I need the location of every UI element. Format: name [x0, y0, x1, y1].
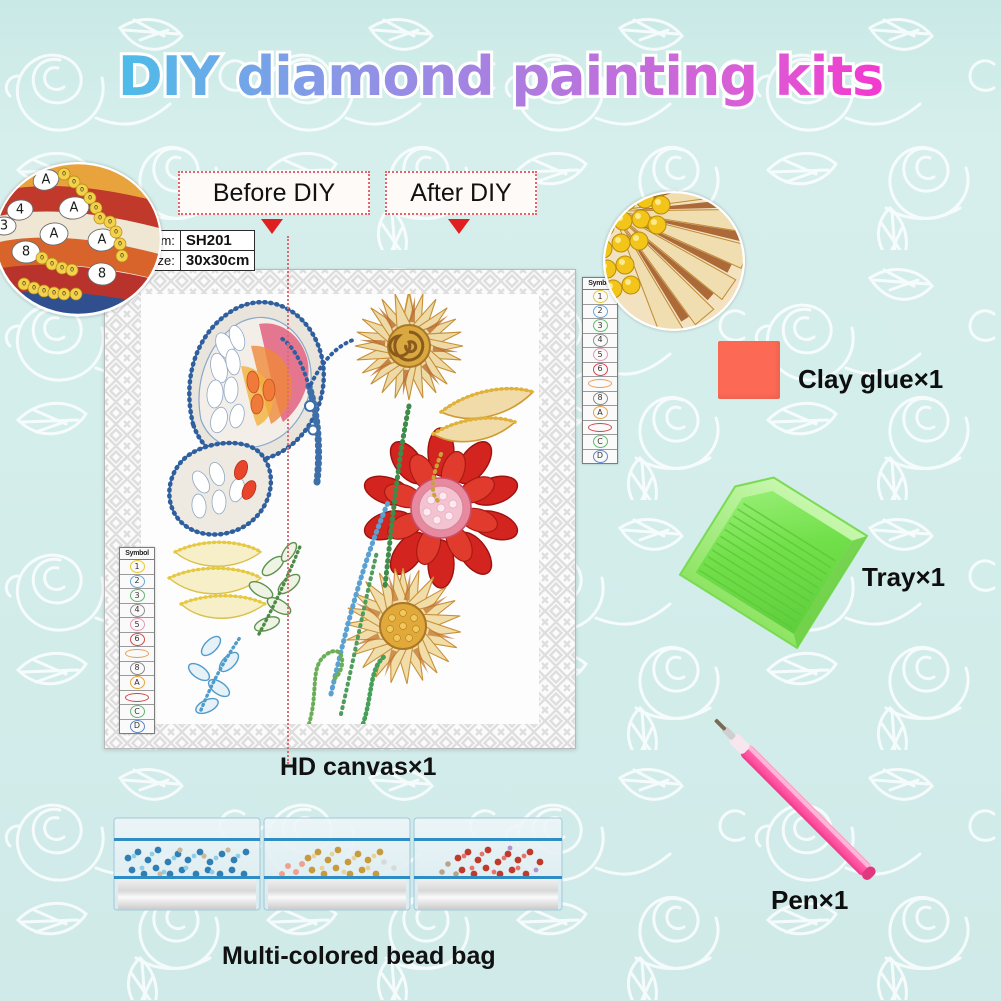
symbol-legend-row: 2 — [120, 575, 154, 590]
quilled-artwork — [141, 294, 539, 724]
hd-canvas-caption: HD canvas×1 — [280, 753, 436, 782]
svg-text:8: 8 — [98, 267, 106, 282]
bead-bag-caption: Multi-colored bead bag — [222, 942, 496, 971]
svg-text:0: 0 — [32, 285, 36, 292]
svg-text:8: 8 — [22, 245, 30, 260]
symbol-swatch: A — [593, 406, 608, 419]
symbol-swatch: C — [593, 435, 608, 448]
hd-canvas-board: Symbol 1234568ACD — [104, 269, 576, 749]
symbol-legend-row: 5 — [120, 618, 154, 633]
symbol-legend-row: 8 — [583, 392, 617, 407]
tray-label: Tray×1 — [862, 562, 945, 593]
svg-text:0: 0 — [42, 288, 46, 295]
svg-text:A: A — [42, 173, 51, 188]
symbol-swatch: D — [130, 720, 145, 733]
svg-text:0: 0 — [70, 267, 74, 274]
svg-text:0: 0 — [118, 241, 122, 248]
symbol-swatch: 8 — [593, 392, 608, 405]
symbol-legend-row: 1 — [120, 560, 154, 575]
symbol-legend-row — [120, 647, 154, 662]
symbol-swatch: 3 — [593, 319, 608, 332]
symbol-legend-row: A — [120, 676, 154, 691]
svg-text:A: A — [70, 201, 79, 216]
svg-text:3: 3 — [0, 219, 8, 234]
symbol-legend-right: Symbol 1234568ACD — [582, 277, 618, 464]
symbol-swatch — [125, 649, 149, 658]
symbol-legend-row — [120, 691, 154, 706]
symbol-swatch: 2 — [593, 305, 608, 318]
symbol-legend-row: A — [583, 406, 617, 421]
symbol-legend-row: 3 — [120, 589, 154, 604]
symbol-swatch: 8 — [130, 662, 145, 675]
svg-text:4: 4 — [16, 203, 24, 218]
symbol-legend-row — [583, 421, 617, 436]
bead-bags-product — [112, 812, 564, 914]
before-after-divider — [287, 236, 289, 764]
symbol-legend-row: C — [583, 435, 617, 450]
after-diy-arrow-icon — [448, 219, 470, 234]
symbol-swatch: 4 — [130, 604, 145, 617]
symbol-legend-row: 4 — [120, 604, 154, 619]
info-item-value: SH201 — [180, 231, 254, 251]
symbol-legend-row: 4 — [583, 334, 617, 349]
page-title: DIY diamond painting kits — [0, 45, 1001, 108]
gold-bead-bag — [264, 818, 410, 910]
symbol-legend-row: 6 — [120, 633, 154, 648]
symbol-legend-left: Symbol 1234568ACD — [119, 547, 155, 734]
clay-glue-label: Clay glue×1 — [798, 364, 943, 395]
symbol-swatch: 3 — [130, 589, 145, 602]
symbol-swatch: 2 — [130, 575, 145, 588]
svg-text:A: A — [50, 227, 59, 242]
svg-text:0: 0 — [120, 253, 124, 260]
pen-label: Pen×1 — [771, 885, 848, 916]
svg-text:0: 0 — [114, 229, 118, 236]
svg-text:0: 0 — [94, 205, 98, 212]
before-diy-arrow-icon — [261, 219, 283, 234]
svg-text:0: 0 — [108, 219, 112, 226]
svg-text:0: 0 — [62, 291, 66, 298]
svg-text:0: 0 — [62, 171, 66, 178]
svg-text:0: 0 — [52, 290, 56, 297]
symbol-legend-row — [583, 377, 617, 392]
symbol-swatch: 1 — [130, 560, 145, 573]
symbol-swatch: C — [130, 705, 145, 718]
symbol-legend-row: D — [120, 720, 154, 734]
symbol-legend-row: 8 — [120, 662, 154, 677]
symbol-swatch: 6 — [593, 363, 608, 376]
sunflower-bead-closeup-bubble — [603, 191, 745, 331]
symbol-swatch: 5 — [130, 618, 145, 631]
svg-text:0: 0 — [72, 179, 76, 186]
tray-product — [660, 468, 890, 668]
canvas-print-area — [141, 294, 539, 724]
symbol-swatch — [125, 693, 149, 702]
symbol-swatch — [588, 379, 612, 388]
symbol-legend-row: 3 — [583, 319, 617, 334]
symbol-swatch — [588, 423, 612, 432]
svg-text:0: 0 — [22, 281, 26, 288]
svg-text:0: 0 — [40, 255, 44, 262]
symbol-swatch: 6 — [130, 633, 145, 646]
info-size-value: 30x30cm — [180, 251, 254, 271]
svg-text:A: A — [98, 233, 107, 248]
svg-text:0: 0 — [88, 195, 92, 202]
symbol-swatch: D — [593, 450, 608, 463]
svg-text:0: 0 — [50, 261, 54, 268]
blue-bead-bag — [114, 818, 260, 910]
symbol-legend-row: 5 — [583, 348, 617, 363]
symbol-legend-row: D — [583, 450, 617, 464]
before-diy-label: Before DIY — [178, 171, 370, 215]
red-bead-bag — [414, 818, 562, 910]
svg-text:0: 0 — [60, 265, 64, 272]
svg-text:0: 0 — [74, 291, 78, 298]
poster-canvas: DIY diamond painting kits DIY diamond pa… — [0, 0, 1001, 1001]
svg-text:0: 0 — [80, 187, 84, 194]
symbol-swatch: 1 — [593, 290, 608, 303]
symbol-legend-header-left: Symbol — [120, 548, 154, 560]
symbol-swatch: A — [130, 676, 145, 689]
after-diy-label: After DIY — [385, 171, 537, 215]
clay-glue-product — [718, 341, 780, 399]
svg-text:0: 0 — [98, 215, 102, 222]
symbol-swatch: 5 — [593, 348, 608, 361]
symbol-legend-row: 2 — [583, 305, 617, 320]
symbol-legend-row: 6 — [583, 363, 617, 378]
symbol-swatch: 4 — [593, 334, 608, 347]
canvas-symbol-closeup-bubble: A 4 A A A 8 8 3 — [0, 162, 162, 317]
symbol-legend-row: C — [120, 705, 154, 720]
